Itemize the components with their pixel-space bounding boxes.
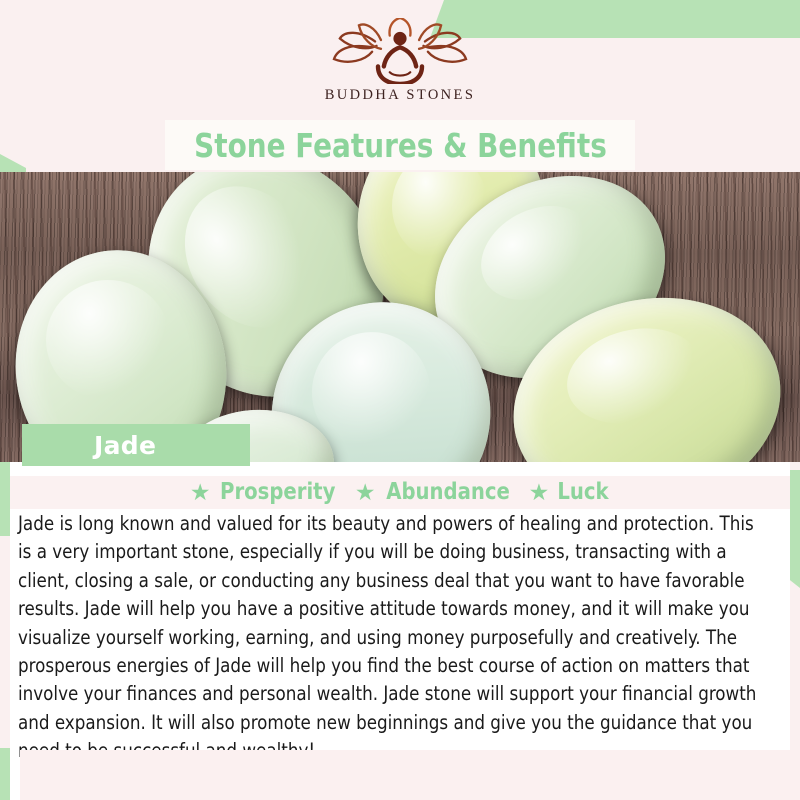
stone-description: Jade is long known and valued for its be… [18,510,763,766]
benefit-item: ★ Luck [529,479,611,505]
benefits-row: ★ Prosperity ★ Abundance ★ Luck [10,476,790,509]
bottom-strip [20,750,800,800]
star-icon: ★ [355,481,376,504]
stone-name: Jade [94,431,156,460]
benefit-label: Luck [558,479,609,505]
title-banner: Stone Features & Benefits [165,120,635,170]
star-icon: ★ [529,481,550,504]
benefit-item: ★ Abundance [355,479,513,505]
benefit-label: Abundance [386,479,510,505]
content-inner: ★ Prosperity ★ Abundance ★ Luck Jade is … [10,462,790,800]
brand-name: BUDDHA STONES [325,87,476,104]
stone-photo [0,172,800,462]
stone-highlight [46,280,170,400]
stone-name-label: Jade [22,424,250,466]
benefit-label: Prosperity [220,479,335,505]
star-icon: ★ [190,481,211,504]
benefit-item: ★ Prosperity [190,479,339,505]
content-panel: ★ Prosperity ★ Abundance ★ Luck Jade is … [0,462,800,800]
brand-header: BUDDHA STONES [0,0,800,120]
infographic-page: BUDDHA STONES Stone Features & Benefits … [0,0,800,800]
page-title: Stone Features & Benefits [194,126,607,165]
lotus-meditation-icon [325,18,475,84]
